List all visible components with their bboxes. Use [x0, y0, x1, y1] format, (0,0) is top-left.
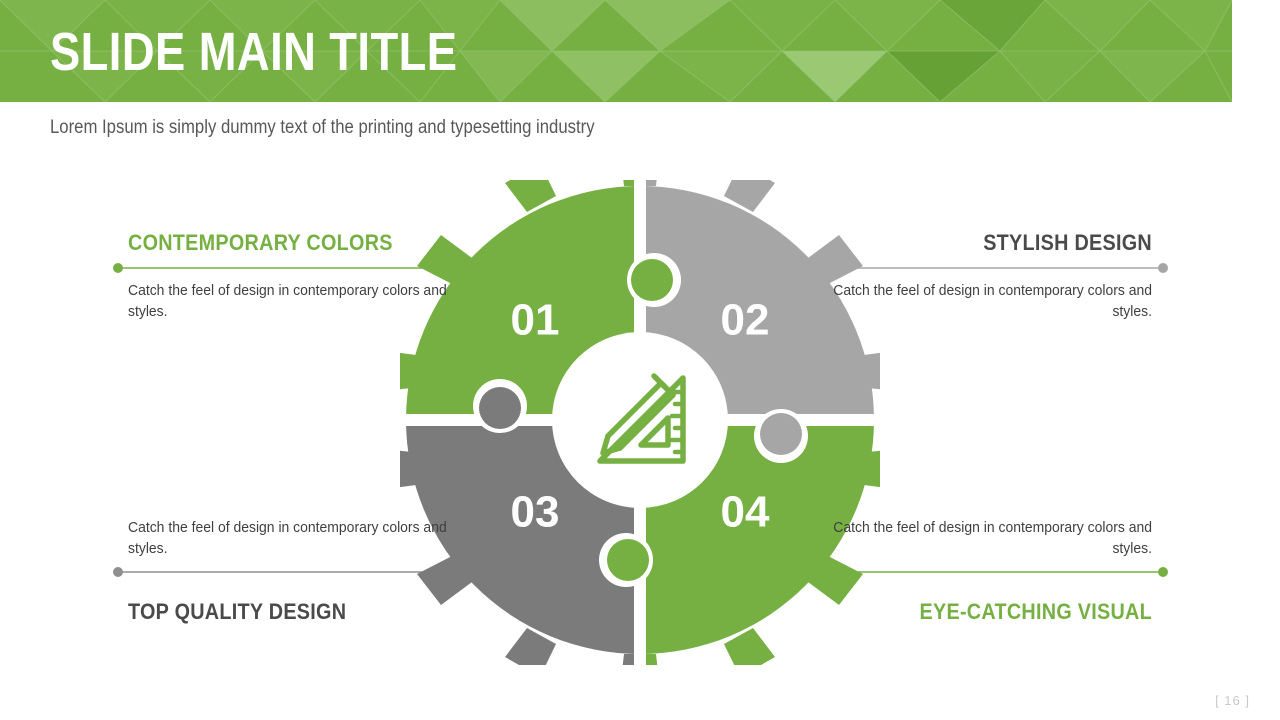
callout-04-body: Catch the feel of design in contemporary…: [799, 517, 1152, 559]
callout-01-body: Catch the feel of design in contemporary…: [128, 280, 481, 322]
callout-02: STYLISH DESIGN Catch the feel of design …: [772, 230, 1152, 322]
puzzle-knob-bottom: [599, 533, 653, 587]
callout-04-heading: EYE-CATCHING VISUAL: [810, 599, 1152, 625]
callout-03-heading: TOP QUALITY DESIGN: [128, 599, 470, 625]
puzzle-knob-right: [754, 409, 808, 463]
callout-01-heading: CONTEMPORARY COLORS: [128, 230, 470, 256]
callout-04: Catch the feel of design in contemporary…: [772, 517, 1152, 625]
page-number: [ 16 ]: [1215, 693, 1250, 708]
gear-number-03: 03: [511, 488, 560, 537]
gear-number-02: 02: [721, 296, 770, 345]
callout-01: CONTEMPORARY COLORS Catch the feel of de…: [128, 230, 508, 322]
gear-number-01: 01: [511, 296, 560, 345]
callout-02-heading: STYLISH DESIGN: [810, 230, 1152, 256]
callout-03: Catch the feel of design in contemporary…: [128, 517, 508, 625]
callout-03-body: Catch the feel of design in contemporary…: [128, 517, 481, 559]
callout-02-body: Catch the feel of design in contemporary…: [799, 280, 1152, 322]
puzzle-knob-top: [627, 253, 681, 307]
slide-canvas: SLIDE MAIN TITLE Lorem Ipsum is simply d…: [0, 0, 1280, 720]
puzzle-knob-left: [473, 379, 527, 433]
gear-number-04: 04: [721, 488, 770, 537]
